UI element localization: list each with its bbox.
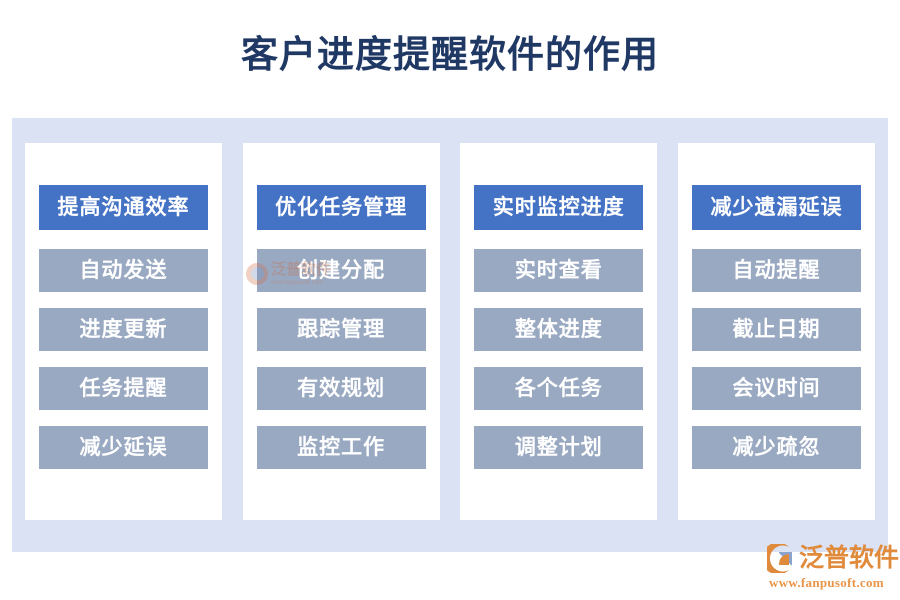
brand-row: 泛普软件 xyxy=(767,543,895,574)
column-4-item-3: 会议时间 xyxy=(692,367,861,410)
brand-url: www.fanpusoft.com xyxy=(769,575,895,590)
column-card-1: 提高沟通效率 自动发送 进度更新 任务提醒 减少延误 xyxy=(25,143,222,520)
column-3-item-3: 各个任务 xyxy=(474,367,643,410)
column-2-item-4: 监控工作 xyxy=(257,426,426,469)
page-title: 客户进度提醒软件的作用 xyxy=(0,33,900,79)
column-1-header: 提高沟通效率 xyxy=(39,185,208,230)
column-1-item-4: 减少延误 xyxy=(39,426,208,469)
column-1-item-1: 自动发送 xyxy=(39,249,208,292)
brand-logo: 泛普软件 www.fanpusoft.com xyxy=(767,543,895,591)
column-3-item-1: 实时查看 xyxy=(474,249,643,292)
column-1-item-3: 任务提醒 xyxy=(39,367,208,410)
column-3-item-2: 整体进度 xyxy=(474,308,643,351)
column-4-item-1: 自动提醒 xyxy=(692,249,861,292)
column-card-2: 优化任务管理 创建分配 跟踪管理 有效规划 监控工作 xyxy=(243,143,440,520)
column-card-4: 减少遗漏延误 自动提醒 截止日期 会议时间 减少疏忽 xyxy=(678,143,875,520)
columns-container: 提高沟通效率 自动发送 进度更新 任务提醒 减少延误 优化任务管理 创建分配 跟… xyxy=(12,143,888,520)
brand-name: 泛普软件 xyxy=(799,544,899,573)
column-4-header: 减少遗漏延误 xyxy=(692,185,861,230)
column-2-item-3: 有效规划 xyxy=(257,367,426,410)
column-4-item-4: 减少疏忽 xyxy=(692,426,861,469)
column-1-item-2: 进度更新 xyxy=(39,308,208,351)
column-2-item-1: 创建分配 xyxy=(257,249,426,292)
column-2-header: 优化任务管理 xyxy=(257,185,426,230)
column-3-item-4: 调整计划 xyxy=(474,426,643,469)
fanpu-swoosh-icon xyxy=(767,544,796,573)
column-3-header: 实时监控进度 xyxy=(474,185,643,230)
column-4-item-2: 截止日期 xyxy=(692,308,861,351)
column-card-3: 实时监控进度 实时查看 整体进度 各个任务 调整计划 xyxy=(460,143,657,520)
column-2-item-2: 跟踪管理 xyxy=(257,308,426,351)
